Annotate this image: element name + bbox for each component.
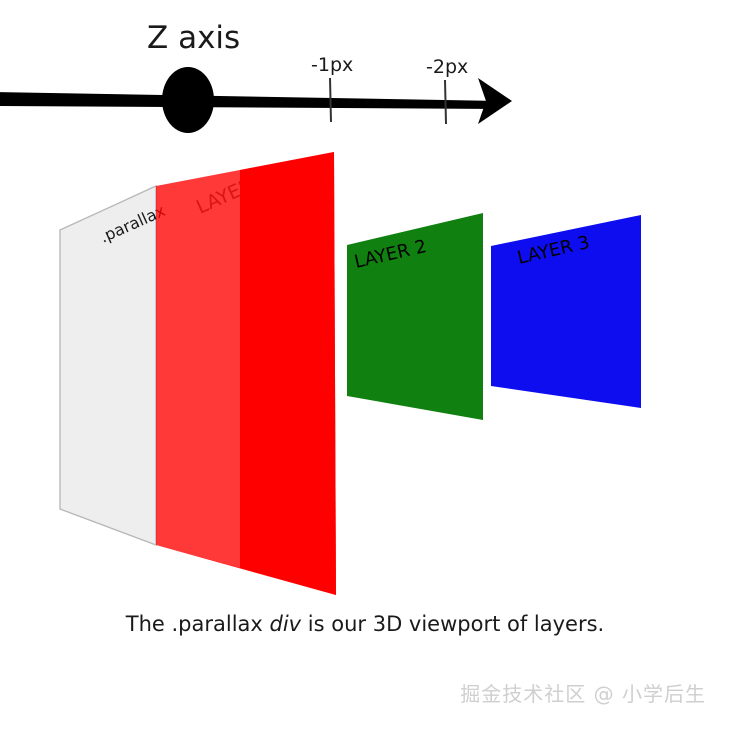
z-axis-shaft — [0, 92, 500, 109]
caption-suffix: is our 3D viewport of layers. — [301, 612, 604, 636]
layer-panel-2[interactable]: LAYER 2 — [347, 213, 483, 420]
diagram-caption: The .parallax div is our 3D viewport of … — [0, 612, 730, 636]
caption-emphasis: div — [270, 612, 302, 636]
z-axis-origin-ellipse — [162, 67, 214, 133]
layer-panel-parallax[interactable]: .parallax — [60, 186, 168, 545]
layer-panel-3[interactable]: LAYER 3 — [491, 215, 641, 408]
z-axis-tick-2 — [445, 80, 446, 124]
z-axis-tick-label-1: -1px — [311, 54, 353, 76]
layer-panel-1[interactable] — [156, 152, 336, 595]
watermark: 掘金技术社区 @ 小学后生 — [460, 678, 706, 707]
z-axis-tick-1 — [330, 78, 331, 122]
caption-prefix: The .parallax — [126, 612, 270, 636]
layer-1-panel-opaque-right — [240, 152, 336, 595]
diagram-canvas: Z axis -1px -2px .parallax LAYER 1 — [0, 0, 730, 730]
z-axis-group: Z axis -1px -2px — [0, 20, 512, 133]
z-axis-tick-label-2: -2px — [426, 56, 468, 78]
z-axis-title: Z axis — [147, 20, 240, 56]
